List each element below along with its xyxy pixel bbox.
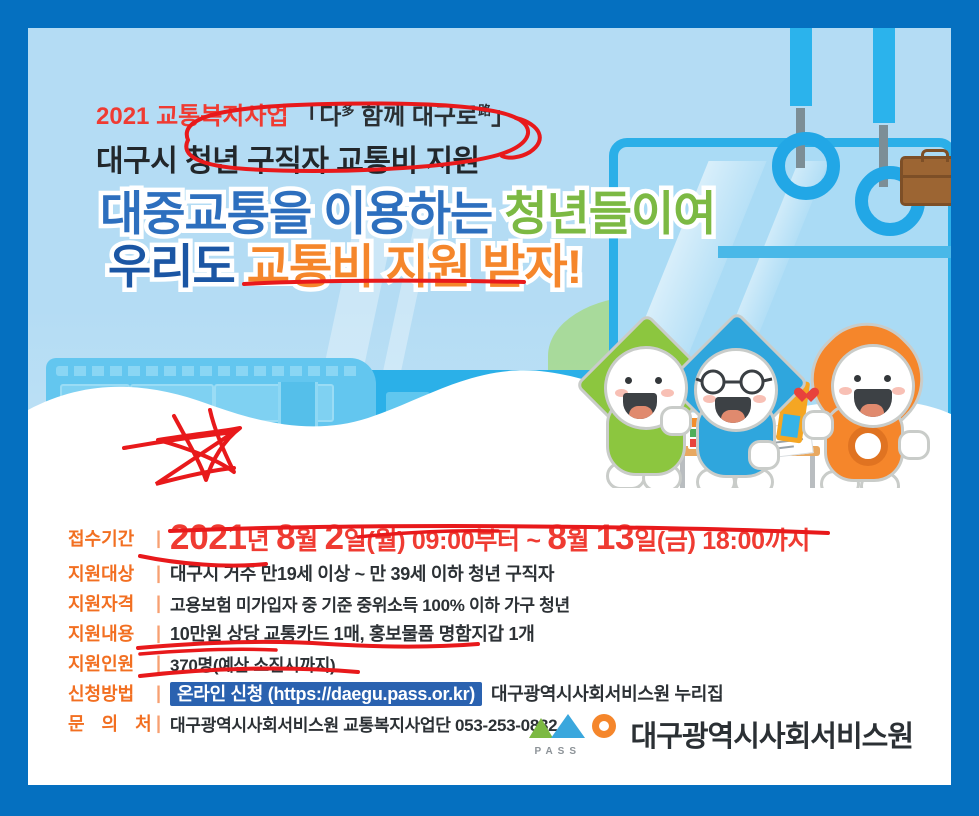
row-label: 접수기간 [68,525,152,551]
kicker-year: 2021 [96,103,149,130]
headline-2a: 우리도 [108,240,247,293]
mascot-badge-icon [848,426,888,466]
slogan-sup-da: 多 [341,103,354,118]
info-row-quota: 지원인원| 370명(예산 소진시까지) [68,650,918,676]
row-separator: | [156,653,161,674]
info-row-eligibility: 지원자격| 고용보험 미가입자 중 기준 중위소득 100% 이하 가구 청년 [68,590,918,616]
mascot-cheek [892,387,905,395]
mascot-head [831,344,915,428]
row-label: 신청방법 [68,680,152,706]
row-separator: | [156,593,161,614]
row-separator: | [156,563,161,584]
pass-chevrons-icon [527,714,619,748]
row-label: 지원대상 [68,560,152,586]
illustration-scene: ⌃ [28,28,951,488]
mascot-eye [854,375,861,382]
row-value: 10만원 상당 교통카드 1매, 홍보물품 명함지갑 1개 [170,620,534,646]
mascot-eye [655,377,662,384]
heart-icon [798,388,815,404]
headline-1a: 대중교통을 이용하는 [100,187,504,240]
mascot-hand [748,440,780,470]
mascot-glasses-icon [694,368,774,396]
row-label: 문 의 처 [68,710,152,736]
mascot-mouth [854,389,892,417]
mascot-hand-holding [898,430,930,460]
row-label: 지원내용 [68,620,152,646]
row-label: 지원자격 [68,590,152,616]
organization-name: 대구광역시사회서비스원 [631,713,913,755]
mascot-mouth [623,393,657,419]
desk-leg [810,456,815,488]
row-separator: | [156,623,161,644]
mascot-cheek [661,389,674,397]
row-separator: | [156,683,161,704]
mascot-mouth [715,397,751,423]
slogan-sup-ro: 路 [478,103,491,118]
row-separator: | [156,713,161,734]
apply-site-name: 대구광역시사회서비스원 누리집 [491,684,723,704]
mascot-cheek [753,395,766,403]
row-value: 대구광역시사회서비스원 교통복지사업단 053-253-0832 [170,711,557,736]
organization-logo: PASS 대구광역시사회서비스원 [527,713,913,755]
briefcase-icon [900,156,951,206]
row-value: 370명(예산 소진시까지) [170,651,335,676]
headline-1b: 청년들이여 [504,187,715,240]
headline-line-2: 우리도 교통비 지원 받자! [108,241,900,294]
row-value: 2021년 8월 2일(월) 09:00부터 ~ 8월 13일(금) 18:00… [170,518,810,558]
pass-logomark: PASS [527,714,619,754]
kicker-line: 2021 교통복지사업 「다多 함께 대구로路」 [96,96,515,131]
poster-card: ⌃ [28,28,951,785]
handrail-strap [873,28,895,123]
headline-block: 대중교통을 이용하는 청년들이여 우리도 교통비 지원 받자! [100,188,900,293]
mascot-hand-thumbsup [660,406,692,436]
info-panel: 접수기간| 2021년 8월 2일(월) 09:00부터 ~ 8월 13일(금)… [28,488,951,785]
apply-url-highlight[interactable]: 온라인 신청 (https://daegu.pass.or.kr) [170,682,482,706]
kicker-program: 교통복지사업 [156,103,288,130]
pass-wordmark: PASS [535,746,582,757]
mascot-eye [625,377,632,384]
row-separator: | [156,528,161,549]
mascot-eye [884,375,891,382]
page-subtitle: 대구시 청년 구직자 교통비 지원 [96,136,480,180]
poster-root: ⌃ [0,0,979,816]
row-value: 온라인 신청 (https://daegu.pass.or.kr)대구광역시사회… [170,680,723,706]
headline-2b: 교통비 지원 받자! [247,240,581,293]
row-value: 고용보험 미가입자 중 기준 중위소득 100% 이하 가구 청년 [170,591,570,616]
mascot-cheek [839,387,852,395]
kicker-slogan: 「다多 함께 대구로路」 [295,103,515,130]
info-row-target: 지원대상| 대구시 거주 만19세 이상 ~ 만 39세 이하 청년 구직자 [68,560,918,586]
handrail-strap [790,28,812,106]
info-row-apply-method: 신청방법| 온라인 신청 (https://daegu.pass.or.kr)대… [68,680,918,706]
row-value: 대구시 거주 만19세 이상 ~ 만 39세 이하 청년 구직자 [170,560,554,586]
mascot-hand-raised [802,410,834,440]
row-label: 지원인원 [68,650,152,676]
info-row-support-content: 지원내용| 10만원 상당 교통카드 1매, 홍보물품 명함지갑 1개 [68,620,918,646]
headline-line-1: 대중교통을 이용하는 청년들이여 [100,188,900,241]
info-row-reception-period: 접수기간| 2021년 8월 2일(월) 09:00부터 ~ 8월 13일(금)… [68,518,918,558]
info-rows: 접수기간| 2021년 8월 2일(월) 09:00부터 ~ 8월 13일(금)… [68,518,918,740]
